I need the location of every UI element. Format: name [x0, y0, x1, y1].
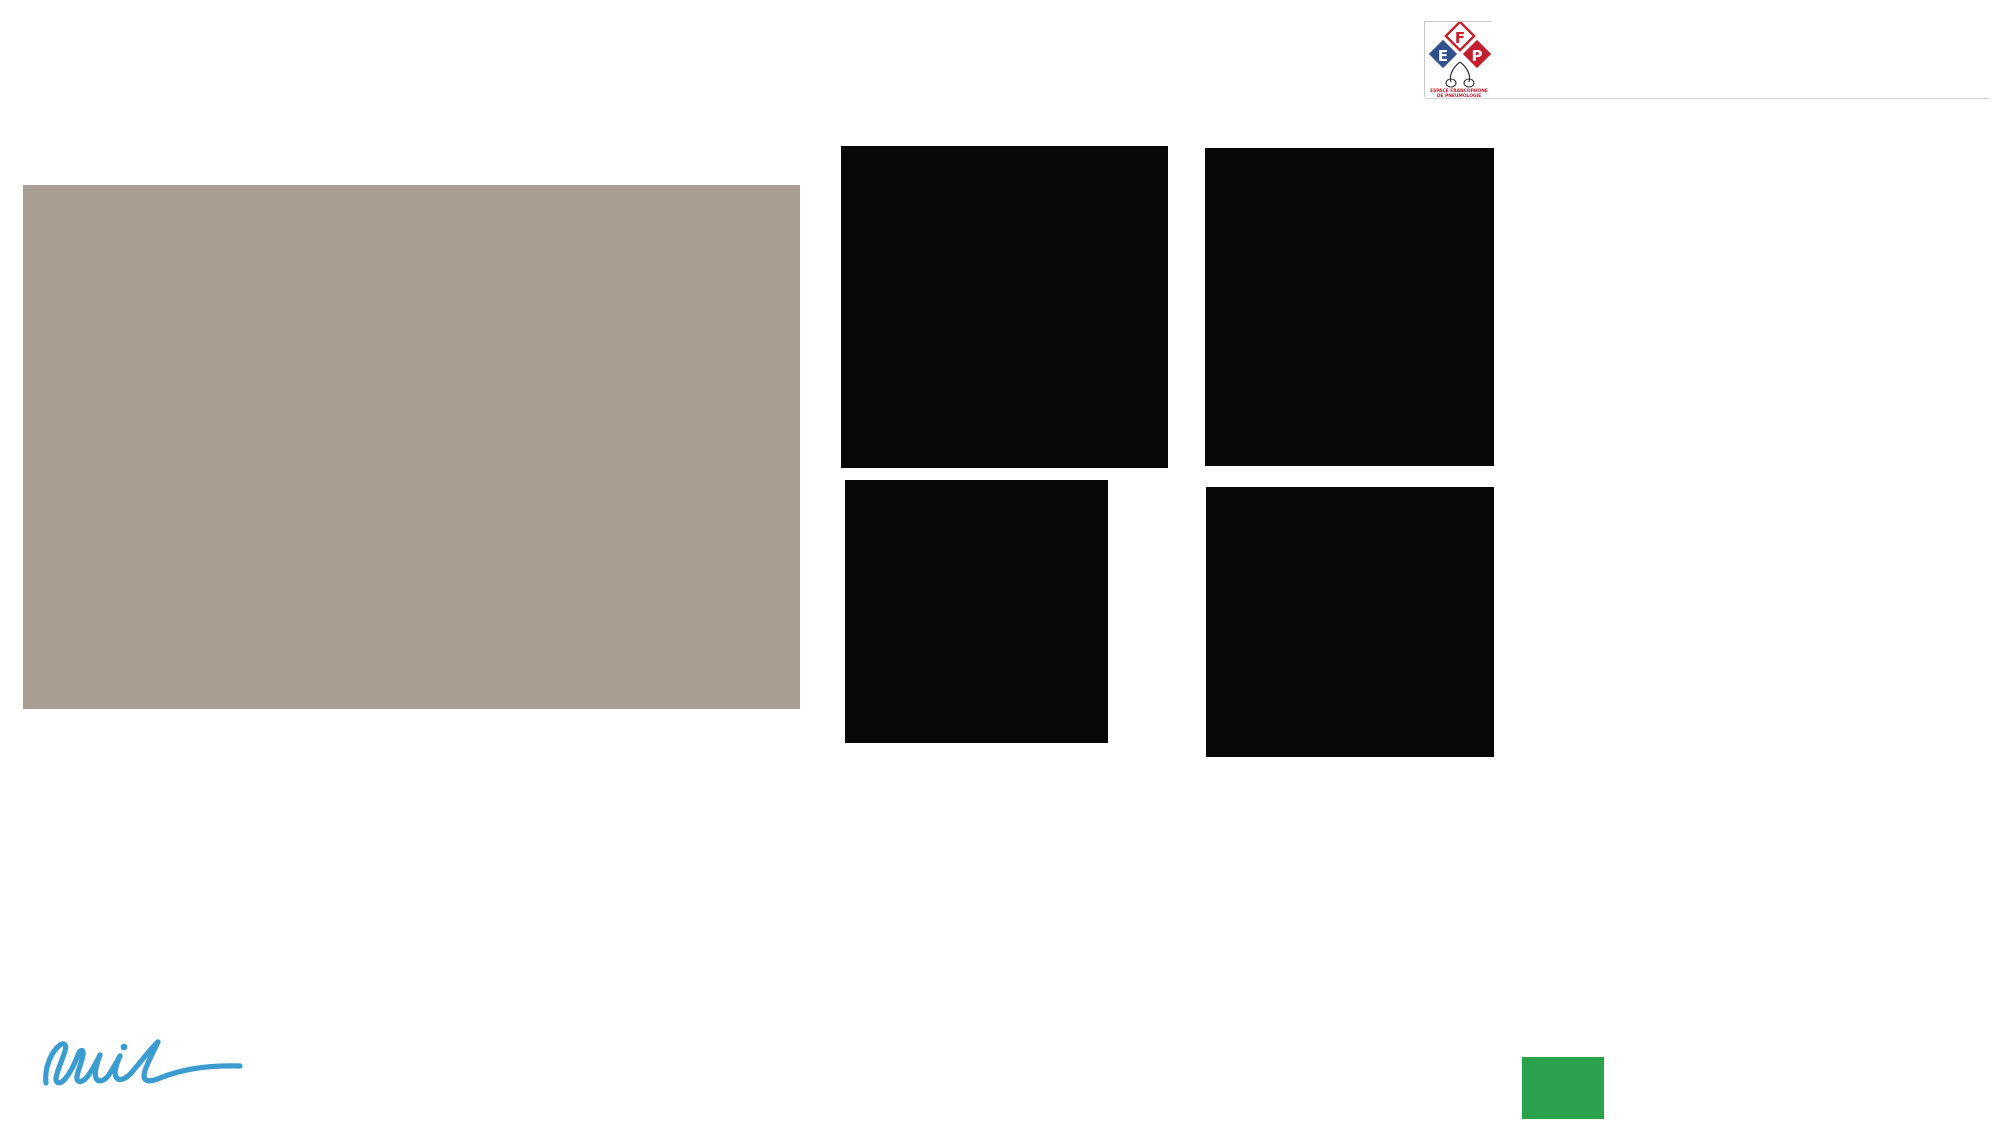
unil-script-icon [34, 1039, 324, 1089]
bronchoscopy-operator-photo [23, 185, 800, 709]
presentation-slide: F E P ESPACE FRANCOPHONE DE PNEUMOLOGIE [0, 0, 2001, 1125]
endoscopy-inflamed-airway [1205, 148, 1494, 466]
unil-logo [28, 1043, 328, 1115]
chuv-letters [1508, 1066, 1663, 1110]
unil-separator [40, 1087, 46, 1108]
svg-text:E: E [1438, 47, 1448, 65]
chuv-logo [1508, 1055, 1988, 1123]
unil-wordmark [40, 1087, 46, 1109]
svg-text:P: P [1472, 47, 1483, 65]
efp-wordmark [1498, 21, 1965, 61]
chuv-mark-icon [1508, 1057, 1660, 1119]
efp-divider [1424, 98, 1990, 99]
efp-diamond-mark-icon: F E P ESPACE FRANCOPHONE DE PNEUMOLOGIE [1424, 21, 1492, 97]
endoscopy-vocal-cords [841, 146, 1168, 468]
svg-text:F: F [1455, 29, 1465, 47]
endoscopy-instrument-in-airway [845, 480, 1108, 743]
efp-logo: F E P ESPACE FRANCOPHONE DE PNEUMOLOGIE [1424, 21, 1990, 99]
efp-tagline [1512, 61, 1973, 95]
endoscopy-obstructing-lesion [1206, 487, 1494, 757]
